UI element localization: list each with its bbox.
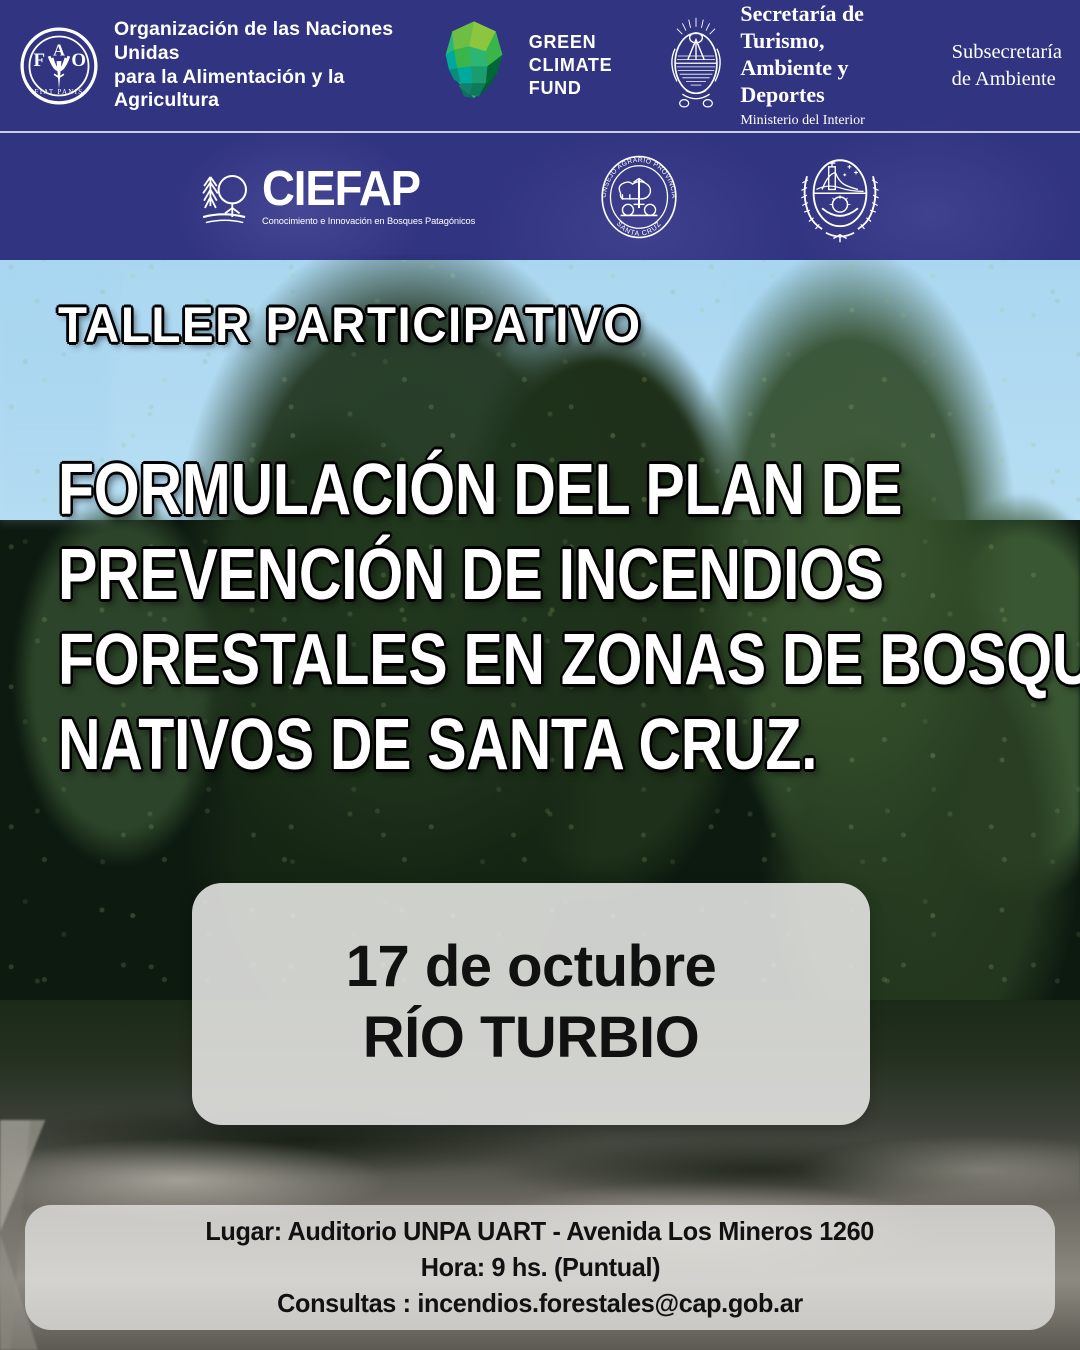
ciefap-tagline: Conocimiento e Innovación en Bosques Pat… bbox=[262, 216, 475, 227]
title-line-2: PREVENCIÓN DE INCENDIOS bbox=[58, 533, 845, 618]
title-line-1: FORMULACIÓN DEL PLAN DE bbox=[58, 448, 845, 533]
seal-ring-top: CONSEJO AGRARIO PROVINCIAL bbox=[593, 151, 677, 199]
page-title: FORMULACIÓN DEL PLAN DE PREVENCIÓN DE IN… bbox=[58, 448, 1018, 788]
headline-block: TALLER PARTICIPATIVO FORMULACIÓN DEL PLA… bbox=[58, 300, 1018, 788]
argentina-coat-of-arms-icon bbox=[664, 16, 728, 116]
ciefap-wordmark: CIEFAP bbox=[262, 166, 466, 213]
svg-text:F: F bbox=[34, 50, 46, 71]
santa-cruz-coat-of-arms-icon bbox=[797, 148, 883, 246]
argentina-secretaria-label: Secretaría de Turismo, Ambiente y Deport… bbox=[740, 1, 907, 108]
ciefap-text-group: CIEFAP Conocimiento e Innovación en Bosq… bbox=[262, 166, 482, 226]
venue-line: Lugar: Auditorio UNPA UART - Avenida Los… bbox=[206, 1216, 875, 1247]
logo-fao: F A O FIAT PANIS Organización de las Nac… bbox=[18, 18, 394, 113]
poster-root: F A O FIAT PANIS Organización de las Nac… bbox=[0, 0, 1080, 1350]
contact-line: Consultas : incendios.forestales@cap.gob… bbox=[277, 1288, 803, 1319]
event-date-card: 17 de octubre RÍO TURBIO bbox=[192, 883, 870, 1125]
time-line: Hora: 9 hs. (Puntual) bbox=[420, 1252, 659, 1283]
svg-text:A: A bbox=[53, 40, 65, 59]
fao-emblem-icon: F A O FIAT PANIS bbox=[18, 25, 100, 107]
ciefap-tree-icon bbox=[197, 166, 253, 228]
fao-motto: FIAT PANIS bbox=[35, 87, 84, 95]
event-city: RÍO TURBIO bbox=[363, 1004, 700, 1072]
consejo-agrario-provincial-seal-icon: CONSEJO AGRARIO PROVINCIAL SANTA CRUZ bbox=[593, 151, 685, 243]
logo-ciefap: CIEFAP Conocimiento e Innovación en Bosq… bbox=[197, 166, 482, 228]
event-details-card: Lugar: Auditorio UNPA UART - Avenida Los… bbox=[25, 1205, 1055, 1330]
gcf-label: GREEN CLIMATE FUND bbox=[529, 31, 613, 100]
kicker-text: TALLER PARTICIPATIVO bbox=[58, 300, 970, 350]
argentina-ministerio-label: Ministerio del Interior bbox=[740, 112, 907, 130]
logo-argentina-secretaria: Secretaría de Turismo, Ambiente y Deport… bbox=[664, 1, 907, 130]
title-line-4: NATIVOS DE SANTA CRUZ. bbox=[58, 703, 845, 788]
logo-subsecretaria-ambiente: Subsecretaría de Ambiente bbox=[952, 39, 1062, 92]
sponsor-row-secondary: CIEFAP Conocimiento e Innovación en Bosq… bbox=[0, 133, 1080, 260]
sponsor-row-primary: F A O FIAT PANIS Organización de las Nac… bbox=[0, 0, 1080, 131]
event-date: 17 de octubre bbox=[346, 935, 717, 1000]
logo-green-climate-fund: GREEN CLIMATE FUND bbox=[432, 18, 613, 114]
svg-text:O: O bbox=[71, 50, 86, 71]
sponsor-header-band: F A O FIAT PANIS Organización de las Nac… bbox=[0, 0, 1080, 260]
title-line-3: FORESTALES EN ZONAS DE BOSQUES bbox=[58, 618, 845, 703]
seal-ring-bottom: SANTA CRUZ bbox=[615, 220, 663, 237]
fao-label: Organización de las Naciones Unidas para… bbox=[114, 18, 394, 113]
svg-text:CONSEJO AGRARIO PROVINCIAL: CONSEJO AGRARIO PROVINCIAL bbox=[593, 151, 677, 199]
argentina-label-group: Secretaría de Turismo, Ambiente y Deport… bbox=[740, 1, 907, 130]
green-climate-fund-globe-icon bbox=[432, 18, 516, 114]
svg-text:SANTA CRUZ: SANTA CRUZ bbox=[615, 220, 663, 237]
